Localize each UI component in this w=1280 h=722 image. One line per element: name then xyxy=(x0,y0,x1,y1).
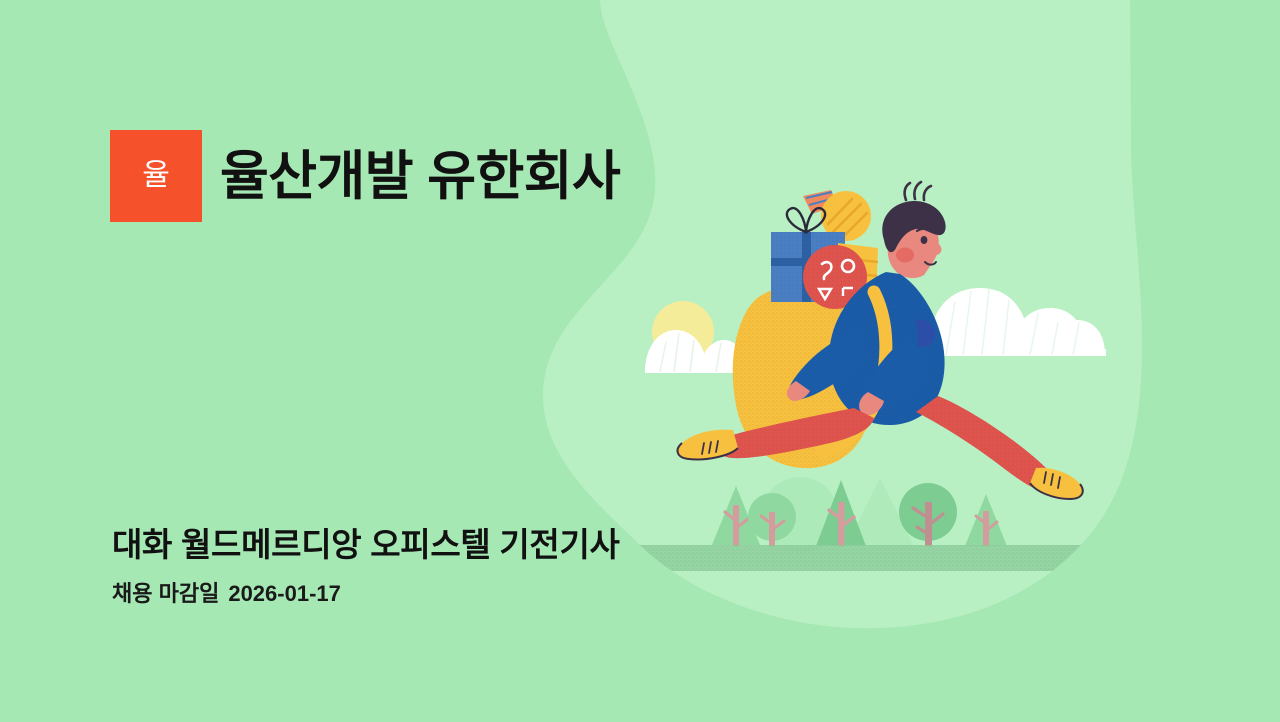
running-man-front-leg xyxy=(916,396,1052,490)
red-ornament-ball xyxy=(803,245,867,309)
tree-conifer-2 xyxy=(816,480,866,547)
yellow-striped-ball xyxy=(821,191,871,241)
white-hills-left xyxy=(645,330,747,373)
job-title: 대화 월드메르디앙 오피스텔 기전기사 xyxy=(112,524,620,565)
white-hills-right xyxy=(928,288,1106,356)
company-name: 율산개발 유한회사 xyxy=(220,150,620,203)
tree-row xyxy=(712,477,1007,553)
tree-round-1 xyxy=(748,493,796,547)
sun-icon xyxy=(652,301,714,363)
running-man-shirt xyxy=(829,272,945,425)
running-man-illustration xyxy=(0,0,1280,722)
poster-footer: 대화 월드메르디앙 오피스텔 기전기사 채용 마감일2026-01-17 xyxy=(112,524,620,608)
gift-sack xyxy=(733,287,872,469)
tree-round-2 xyxy=(899,483,957,547)
job-posting-poster: 율 율산개발 유한회사 대화 월드메르디앙 오피스텔 기전기사 채용 마감일20… xyxy=(0,0,1280,722)
running-man-head xyxy=(882,182,945,278)
deadline-label: 채용 마감일 xyxy=(112,581,219,606)
deadline-line: 채용 마감일2026-01-17 xyxy=(112,581,620,607)
background-blob xyxy=(0,0,1280,722)
running-man-back-arm xyxy=(787,330,866,401)
poster-header: 율 율산개발 유한회사 xyxy=(110,130,620,222)
company-logo-character: 율 xyxy=(142,161,170,191)
confetti-ribbon xyxy=(803,190,838,214)
running-man-front-shoe xyxy=(1030,468,1083,499)
deadline-date: 2026-01-17 xyxy=(228,581,341,606)
gold-striped-box xyxy=(836,243,878,300)
ground-strip xyxy=(540,545,1160,571)
sack-strap xyxy=(822,292,886,452)
tree-conifer-1 xyxy=(712,486,760,547)
tree-conifer-3 xyxy=(965,494,1007,547)
company-logo-badge: 율 xyxy=(110,130,202,222)
blue-gift-box xyxy=(771,208,845,302)
running-man-back-leg xyxy=(719,408,874,458)
running-man-front-arm xyxy=(859,320,935,415)
running-man-back-shoe xyxy=(678,430,738,460)
